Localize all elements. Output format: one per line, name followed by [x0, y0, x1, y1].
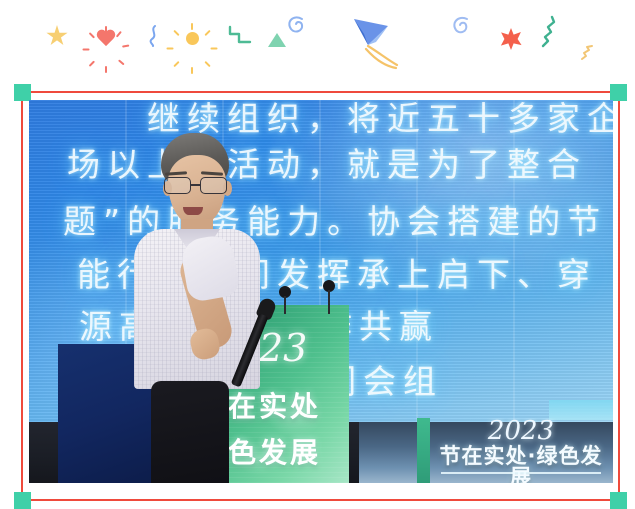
- yellow-star-sticker: [46, 25, 68, 47]
- doodle-sticker-band: [0, 0, 635, 78]
- corner-square-bottom-right: [610, 492, 627, 509]
- frame-line-top: [22, 91, 619, 93]
- blue-spiral-sticker: [282, 12, 312, 47]
- stage-slogan-underline: [441, 472, 601, 474]
- speaker-mouth: [183, 207, 203, 215]
- conference-speaker-photo: 继续组织，将近五十多家企 场以上的活动，就是为了整合 题”的服务能力。协会搭建的…: [29, 100, 613, 483]
- speaker-trousers: [151, 381, 229, 483]
- green-zigzag-sticker-2: [540, 14, 566, 53]
- stage-slogan-text: 节在实处·绿色发展: [429, 446, 613, 483]
- stage-light-sliver: [549, 400, 613, 420]
- led-text-line-1: 继续组织，将近五十多家企: [147, 102, 613, 135]
- corner-square-top-right: [610, 84, 627, 101]
- speaker-eyeglasses: [162, 177, 232, 194]
- stage-slogan-plate: 2023 节在实处·绿色发展: [429, 418, 613, 483]
- green-zigzag-sticker: [228, 25, 254, 52]
- blue-squiggle-sticker: [147, 25, 161, 52]
- male-speaker-with-glasses: [129, 133, 264, 483]
- frame-line-left: [21, 91, 23, 499]
- red-heart-burst-sticker: [86, 20, 126, 58]
- corner-square-bottom-left: [14, 492, 31, 509]
- paper-plane-sticker: [352, 16, 424, 77]
- corner-square-top-left: [14, 84, 31, 101]
- yellow-sun-sticker: [172, 18, 212, 58]
- stage-slogan-script-mark: 2023: [429, 418, 613, 444]
- page-root: 继续组织，将近五十多家企 场以上的活动，就是为了整合 题”的服务能力。协会搭建的…: [0, 0, 635, 509]
- blue-spiral-sticker-2: [448, 13, 476, 46]
- red-star-sticker: [500, 28, 522, 50]
- frame-line-bottom: [14, 499, 614, 501]
- frame-line-right: [618, 91, 620, 500]
- yellow-zigzag-sticker: [580, 44, 600, 67]
